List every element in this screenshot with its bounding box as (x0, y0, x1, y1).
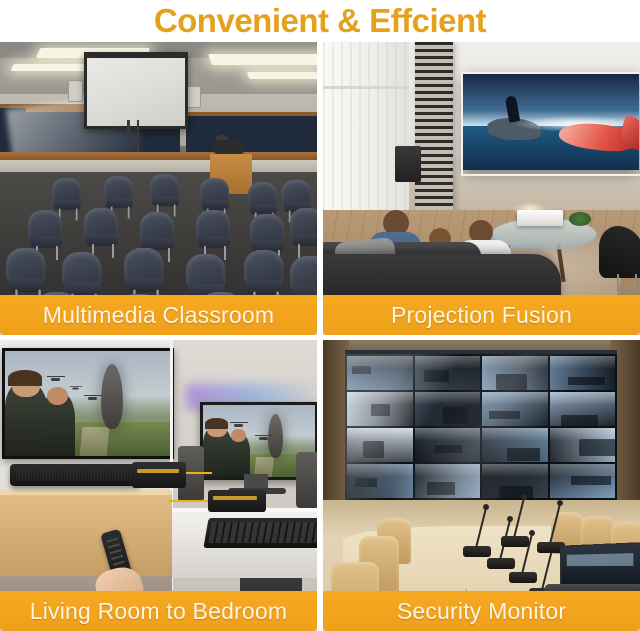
wall-speaker (68, 80, 83, 102)
camera-feed-tile (347, 392, 413, 426)
caption-living-room-to-bedroom: Living Room to Bedroom (0, 591, 317, 631)
camera-feed-highlight (482, 464, 548, 477)
camera-feed-tile (415, 464, 481, 498)
camera-feed-tile (482, 428, 548, 462)
camera-feed-object (579, 439, 615, 456)
movie-alien-pod (101, 364, 123, 429)
hdmi-extender-transmitter (132, 462, 186, 488)
movie-figure-hair (205, 418, 227, 429)
camera-feed-tile (482, 464, 548, 498)
camera-feed-object (435, 445, 462, 454)
camera-feed-object (424, 370, 448, 382)
table-plant (569, 212, 591, 226)
projection-screen (84, 52, 188, 129)
accent-chair (599, 226, 640, 278)
camera-feed-highlight (550, 428, 616, 441)
camera-feed-highlight (482, 428, 548, 441)
movie-alien-pod (268, 414, 283, 459)
camera-feed-tile (482, 392, 548, 426)
camera-feed-tile (550, 356, 616, 390)
page-title-bar: Convenient & Effcient (0, 0, 640, 42)
laptop-keyboard-base (540, 584, 640, 591)
camera-feed-tile (550, 464, 616, 498)
chair-base (617, 274, 637, 292)
movie-figure-head (47, 387, 69, 405)
camera-feed-highlight (347, 428, 413, 441)
camera-feed-tile (550, 428, 616, 462)
camera-feed-object (561, 415, 598, 426)
movie-figure-head (231, 429, 246, 441)
wood-cabinet (0, 490, 172, 581)
conference-chair (331, 562, 379, 591)
camera-feed-tile (415, 392, 481, 426)
control-room-scene (323, 340, 640, 591)
desk-speaker (296, 452, 317, 508)
movie-helicopter (234, 424, 243, 427)
keyboard (203, 518, 317, 548)
projector-device (517, 210, 563, 226)
photo-security-monitor (323, 340, 640, 591)
camera-feed-object (496, 374, 526, 390)
window-curtain (323, 42, 409, 232)
movie-helicopter (259, 437, 268, 440)
window-frame (323, 86, 409, 89)
feature-cell-multimedia-classroom[interactable]: Multimedia Classroom (0, 42, 317, 335)
camera-feed-tile (415, 356, 481, 390)
desk-pedestal (240, 578, 302, 591)
dual-room-scene (0, 340, 317, 591)
camera-feed-highlight (482, 392, 548, 405)
camera-feed-object (443, 407, 469, 424)
hdmi-cable (168, 500, 210, 502)
laptop (543, 544, 635, 591)
movie-figure-hair (8, 370, 41, 386)
camera-feed-highlight (550, 356, 616, 369)
camera-feed-object (499, 486, 533, 498)
feature-grid: Multimedia Classroom (0, 42, 640, 631)
wall-ledge (0, 160, 317, 172)
camera-feed-highlight (415, 428, 481, 441)
promo-page: Convenient & Effcient (0, 0, 640, 631)
video-wall (345, 354, 617, 500)
movie-helicopter (88, 397, 97, 400)
floor-speaker (395, 146, 421, 182)
movie-road (80, 427, 110, 456)
movie-helicopter (51, 378, 60, 381)
camera-feed-highlight (550, 464, 616, 477)
camera-feed-tile (415, 428, 481, 462)
caption-projection-fusion: Projection Fusion (323, 295, 640, 335)
camera-feed-tile (347, 464, 413, 498)
camera-feed-tile (550, 392, 616, 426)
mic-cable (481, 588, 551, 591)
camera-feed-object (507, 448, 540, 461)
movie-frame (5, 351, 171, 456)
camera-feed-object (489, 411, 520, 419)
camera-feed-highlight (415, 356, 481, 369)
photo-multimedia-classroom (0, 42, 317, 295)
living-room-scene (323, 42, 640, 295)
camera-feed-highlight (415, 392, 481, 405)
camera-feed-object (355, 478, 377, 487)
camera-feed-object (363, 441, 384, 458)
feature-cell-living-room-to-bedroom[interactable]: Living Room to Bedroom (0, 340, 317, 631)
photo-living-room-to-bedroom (0, 340, 317, 591)
page-title: Convenient & Effcient (154, 2, 486, 40)
camera-feed-object (568, 377, 604, 385)
fluorescent-light (247, 72, 317, 79)
camera-feed-highlight (347, 464, 413, 477)
feature-cell-security-monitor[interactable]: Security Monitor (323, 340, 640, 631)
desk-projector (214, 140, 244, 154)
fluorescent-light (10, 64, 91, 71)
classroom-scene (0, 42, 317, 295)
camera-feed-tile (347, 428, 413, 462)
leather-sofa (323, 254, 561, 295)
movie-helicopter (73, 387, 79, 389)
camera-feed-highlight (482, 356, 548, 369)
caption-security-monitor: Security Monitor (323, 591, 640, 631)
camera-feed-object (571, 476, 611, 485)
camera-feed-highlight (550, 392, 616, 405)
feature-cell-projection-fusion[interactable]: Projection Fusion (323, 42, 640, 335)
photo-projection-fusion (323, 42, 640, 295)
wall-speaker (186, 86, 201, 108)
hdmi-extender-receiver (208, 490, 266, 512)
camera-feed-object (427, 482, 455, 495)
room-floor (0, 576, 172, 591)
camera-feed-highlight (415, 464, 481, 477)
screen-frame (461, 72, 640, 176)
projection-screen-large (2, 348, 174, 459)
camera-feed-highlight (347, 392, 413, 405)
soundbar (10, 464, 140, 486)
fluorescent-light (208, 54, 317, 65)
camera-feed-highlight (347, 356, 413, 369)
camera-feed-tile (347, 356, 413, 390)
camera-feed-tile (482, 356, 548, 390)
caption-multimedia-classroom: Multimedia Classroom (0, 295, 317, 335)
camera-feed-object (371, 404, 391, 416)
